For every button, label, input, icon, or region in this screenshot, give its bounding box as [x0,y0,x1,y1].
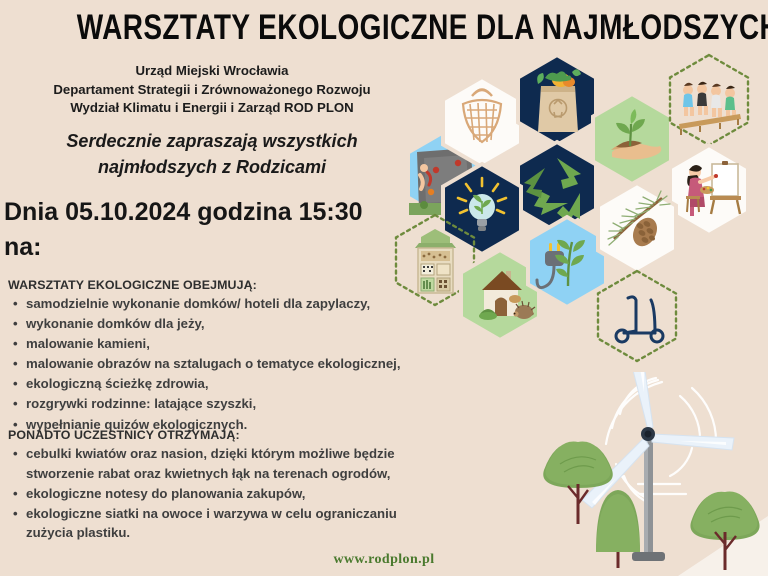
website-url[interactable]: www.rodplon.pl [0,552,768,568]
list-item-text: ekologiczną ścieżkę zdrowia, [26,374,434,394]
hex-eco-lightbulb [443,164,521,254]
event-date-suffix: na: [4,230,434,265]
bullet-icon: • [13,394,18,414]
hex-electric-scooter [598,271,676,361]
list-item-text: cebulki kwiatów oraz nasion, dzięki któr… [26,444,434,483]
hex-kids-on-bench [670,55,748,145]
hex-mesh-shopping-bag [443,77,521,167]
list-item: •malowanie obrazów na sztalugach o temat… [4,354,434,374]
list-item: •wykonanie domków dla jeży, [4,314,434,334]
bullet-icon: • [13,504,18,524]
invitation-line-2: najmłodszych z Rodzicami [12,154,412,180]
poster-canvas: WARSZTATY EKOLOGICZNE DLA NAJMŁODSZYCH U… [0,0,768,576]
invitation-line-1: Serdecznie zapraszają wszystkich [12,128,412,154]
section-workshops: WARSZTATY EKOLOGICZNE OBEJMUJĄ: •samodzi… [4,278,434,435]
section-workshops-list: •samodzielnie wykonanie domków/ hoteli d… [4,294,434,434]
list-item: •ekologiczne notesy do planowania zakupó… [4,484,434,504]
section-giveaways-list: •cebulki kwiatów oraz nasion, dzięki któ… [4,444,434,543]
hex-plug-with-leaves [528,217,606,307]
organizer-line-1: Urząd Miejski Wrocławia [12,62,412,81]
bullet-icon: • [13,354,18,374]
organizer-line-2: Departament Strategii i Zrównoważonego R… [12,81,412,100]
list-item-text: ekologiczne notesy do planowania zakupów… [26,484,434,504]
hex-recycling-symbol [518,142,596,232]
bullet-icon: • [13,334,18,354]
hex-paper-bag-vegetables [518,55,596,145]
organizer-block: Urząd Miejski Wrocławia Departament Stra… [12,62,412,118]
bullet-icon: • [13,484,18,504]
bullet-icon: • [13,314,18,334]
section-giveaways: PONADTO UCZESTNICY OTRZYMAJĄ: •cebulki k… [4,428,434,543]
page-title: WARSZTATY EKOLOGICZNE DLA NAJMŁODSZYCH [77,8,691,48]
list-item: •cebulki kwiatów oraz nasion, dzięki któ… [4,444,434,483]
list-item-text: ekologiczne siatki na owoce i warzywa w … [26,504,434,543]
section-workshops-heading: WARSZTATY EKOLOGICZNE OBEJMUJĄ: [8,278,434,292]
organizer-line-3: Wydział Klimatu i Energii i Zarząd ROD P… [12,99,412,118]
list-item-text: malowanie kamieni, [26,334,434,354]
list-item-text: wykonanie domków dla jeży, [26,314,434,334]
hex-girl-painting-easel [670,145,748,235]
invitation-block: Serdecznie zapraszają wszystkich najmłod… [12,128,412,180]
list-item: •rozgrywki rodzinne: latające szyszki, [4,394,434,414]
list-item: •ekologiczną ścieżkę zdrowia, [4,374,434,394]
list-item-text: malowanie obrazów na sztalugach o tematy… [26,354,434,374]
list-item-text: rozgrywki rodzinne: latające szyszki, [26,394,434,414]
list-item: •ekologiczne siatki na owoce i warzywa w… [4,504,434,543]
event-date-block: Dnia 05.10.2024 godzina 15:30 na: [4,195,434,265]
bullet-icon: • [13,374,18,394]
list-item-text: samodzielnie wykonanie domków/ hoteli dl… [26,294,434,314]
bullet-icon: • [13,444,18,464]
event-date-line: Dnia 05.10.2024 godzina 15:30 [4,195,434,230]
section-giveaways-heading: PONADTO UCZESTNICY OTRZYMAJĄ: [8,428,434,442]
list-item: •samodzielnie wykonanie domków/ hoteli d… [4,294,434,314]
list-item: •malowanie kamieni, [4,334,434,354]
hex-pine-cone-branch [598,183,676,273]
bullet-icon: • [13,294,18,314]
hex-hand-with-seedling [593,94,671,184]
